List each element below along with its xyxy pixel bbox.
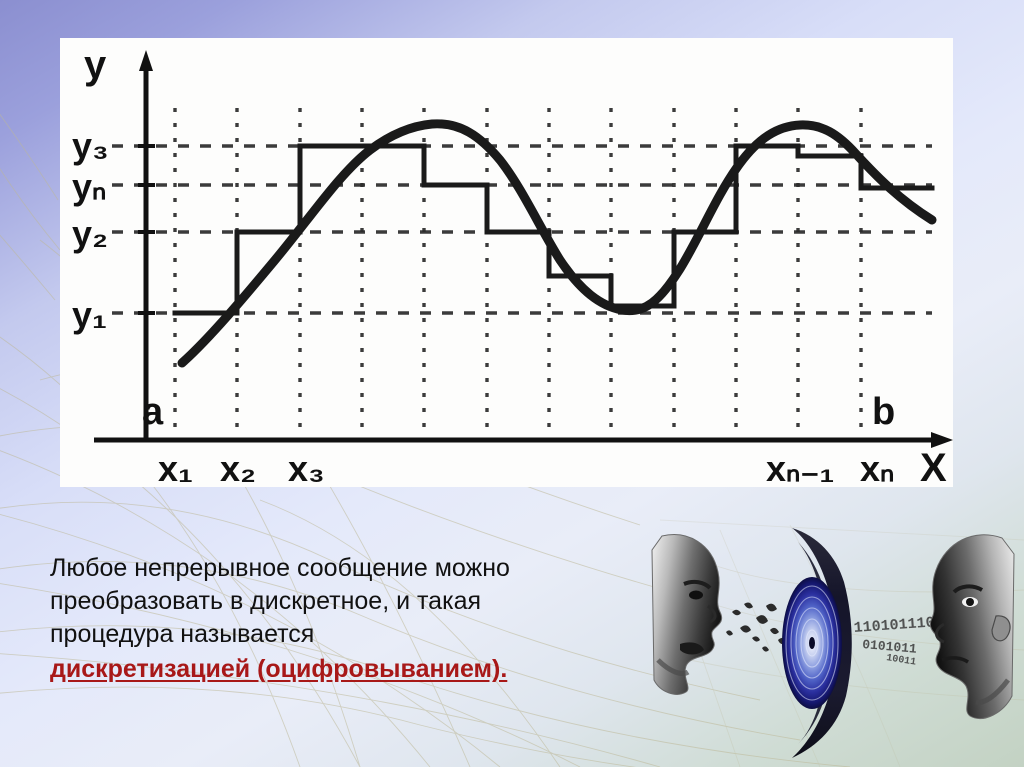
interval-end-label-b: b: [872, 391, 895, 433]
x-tick-label-xn-1: xₙ₋₁: [766, 448, 834, 487]
quantized-step-function: [175, 146, 932, 313]
listening-face-profile: [930, 535, 1014, 719]
caption-line-1: Любое непрерывное сообщение можно: [50, 552, 650, 585]
interval-start-label-a: a: [142, 391, 164, 433]
caption-highlight-term: дискретизацией (оцифровыванием).: [50, 651, 650, 687]
x-axis-label: X: [920, 446, 947, 487]
continuous-signal-curve: [182, 124, 932, 363]
slide-root: y y₃ yₙ y₂ y₁ a b x₁ x₂ x₃ xₙ₋₁ xₙ X Л: [0, 0, 1024, 767]
caption-line-2: преобразовать в дискретное, и такая: [50, 585, 650, 618]
caption-line-3: процедура называется: [50, 618, 650, 651]
chart-panel: y y₃ yₙ y₂ y₁ a b x₁ x₂ x₃ xₙ₋₁ xₙ X: [60, 38, 953, 487]
y-tick-label-y3: y₃: [72, 125, 109, 166]
grid-vertical-lines: [175, 108, 861, 440]
x-tick-label-x2: x₂: [220, 448, 256, 487]
binary-digit-stream: 110101110 0101011 10011: [853, 614, 935, 668]
chart-labels: y y₃ yₙ y₂ y₁ a b x₁ x₂ x₃ xₙ₋₁ xₙ X: [72, 43, 947, 487]
chart-axes: [94, 50, 953, 448]
illustration-svg: 110101110 0101011 10011: [640, 520, 1024, 767]
x-tick-label-x3: x₃: [288, 448, 325, 487]
x-tick-label-x1: x₁: [158, 448, 193, 487]
y-axis-label: y: [84, 43, 107, 87]
sampling-quantization-chart: y y₃ yₙ y₂ y₁ a b x₁ x₂ x₃ xₙ₋₁ xₙ X: [60, 38, 953, 487]
blue-lens-portal: [782, 528, 852, 758]
y-tick-label-yn: yₙ: [72, 166, 106, 207]
analog-to-digital-illustration: 110101110 0101011 10011: [640, 520, 1024, 767]
speaking-face-profile: [652, 535, 722, 695]
svg-text:110101110: 110101110: [853, 614, 935, 637]
y-tick-label-y1: y₁: [72, 294, 107, 335]
caption-block: Любое непрерывное сообщение можно преобр…: [50, 552, 650, 687]
x-tick-label-xn: xₙ: [860, 448, 894, 487]
y-tick-label-y2: y₂: [72, 213, 108, 254]
